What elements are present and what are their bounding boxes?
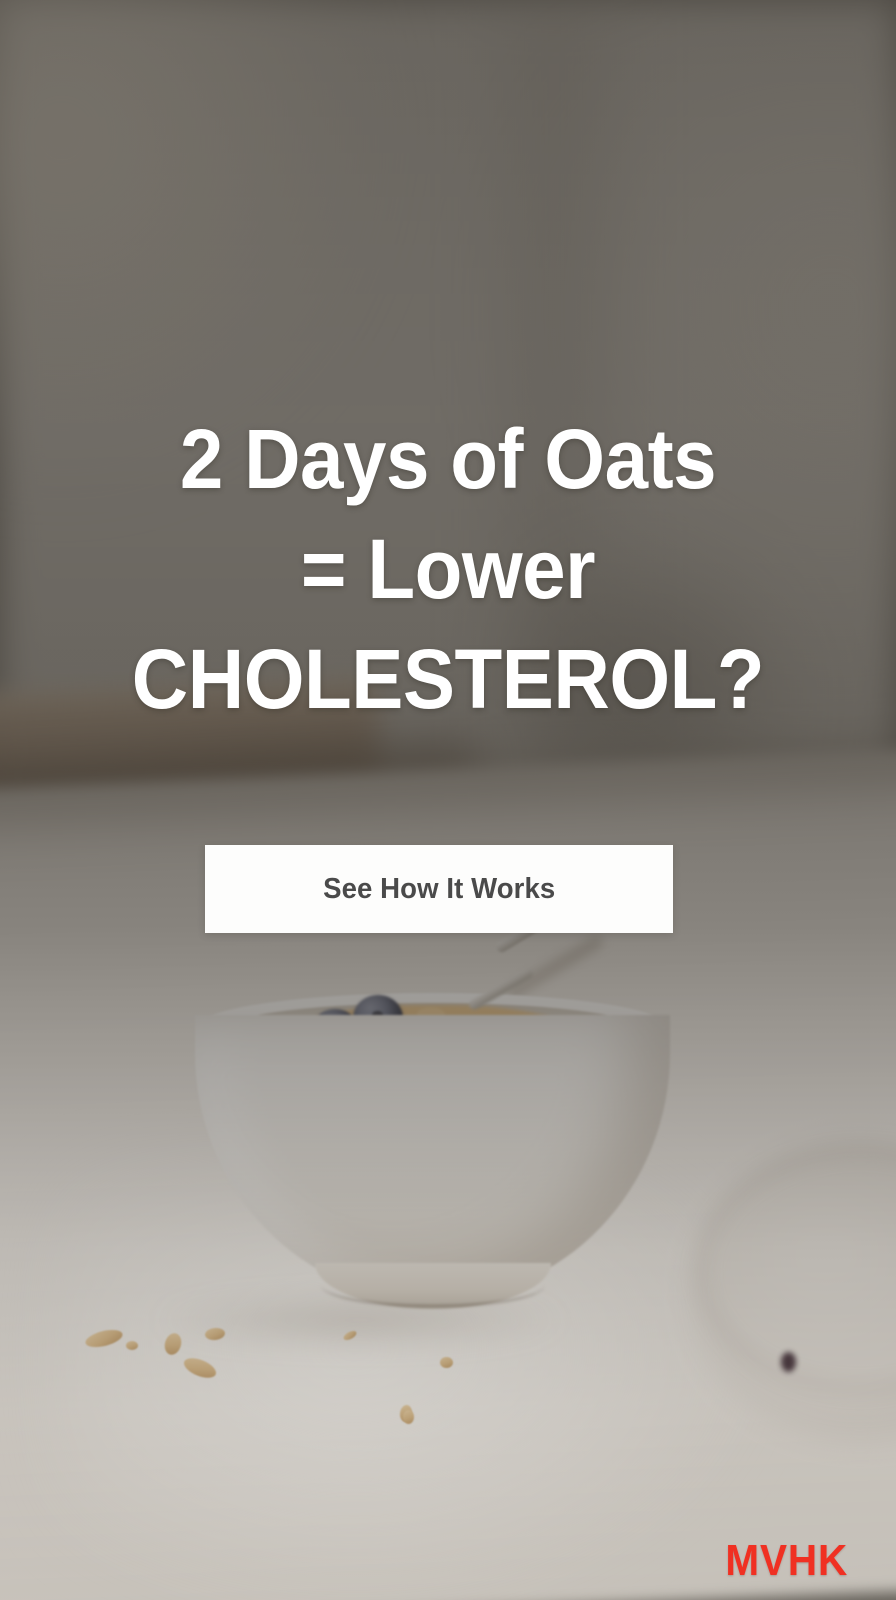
see-how-it-works-label: See How It Works bbox=[323, 873, 555, 906]
watermark: MVHK bbox=[726, 1536, 849, 1586]
see-how-it-works-button[interactable]: See How It Works bbox=[205, 845, 673, 933]
pin-content: 2 Days of Oats = Lower CHOLESTEROL? See … bbox=[0, 0, 896, 1600]
pinterest-pin-graphic: 2 Days of Oats = Lower CHOLESTEROL? See … bbox=[0, 0, 896, 1600]
page-title: 2 Days of Oats = Lower CHOLESTEROL? bbox=[31, 404, 864, 734]
